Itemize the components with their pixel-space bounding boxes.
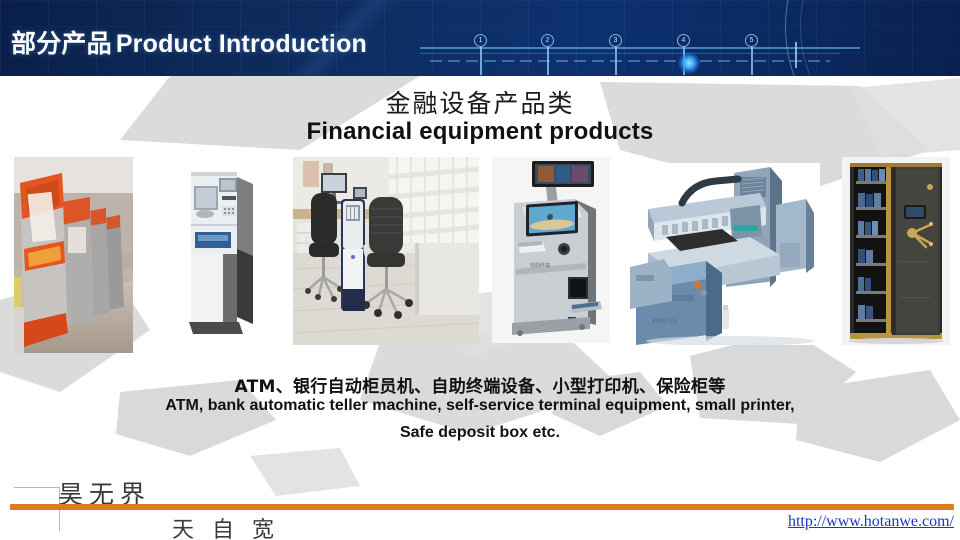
timeline-node-3-stem <box>615 47 617 75</box>
footer-divider-rule <box>10 504 954 510</box>
timeline-dashes <box>430 60 830 62</box>
dial-ticks-icon <box>772 0 960 76</box>
slide-header: 1 2 3 4 5 部分产品Product Introduction <box>0 0 960 76</box>
timeline-active-marker-glow <box>678 52 700 74</box>
timeline-node-5-label: 5 <box>745 34 758 47</box>
caption-cn: ATM、银行自动柜员机、自助终端设备、小型打印机、保险柜等 <box>0 372 960 397</box>
timeline-node-1-stem <box>480 47 482 75</box>
product-image-self-service-terminal: 自助终端 <box>492 157 610 343</box>
timeline-node-1: 1 <box>474 34 487 47</box>
page-title: 部分产品Product Introduction <box>11 24 367 60</box>
website-url-link[interactable]: http://www.hotanwe.com/ <box>788 513 954 531</box>
slide-root: 1 2 3 4 5 部分产品Product Introduction 金融设备产… <box>0 0 960 540</box>
timeline-node-3: 3 <box>609 34 622 47</box>
product-image-safe-deposit-cabinet <box>842 157 950 345</box>
timeline-node-4-label: 4 <box>677 34 690 47</box>
page-title-cn: 部分产品 <box>11 29 112 58</box>
svg-text:自助终端: 自助终端 <box>530 262 550 269</box>
timeline-node-4: 4 <box>677 34 690 47</box>
section-title-en: Financial equipment products <box>0 118 960 146</box>
product-image-bank-office <box>293 157 479 345</box>
timeline-node-5-stem <box>751 47 753 75</box>
timeline-node-2: 2 <box>541 34 554 47</box>
svg-text:PRINTER: PRINTER <box>652 318 678 325</box>
timeline-end-tick <box>795 42 797 68</box>
timeline-rule-secondary <box>420 53 840 54</box>
timeline-node-5: 5 <box>745 34 758 47</box>
logo-text-bottom: 天自宽 <box>172 512 292 540</box>
caption-en-line1: ATM, bank automatic teller machine, self… <box>0 397 960 415</box>
timeline-rule <box>420 47 860 49</box>
section-title-cn: 金融设备产品类 <box>0 84 960 120</box>
timeline-node-1-label: 1 <box>474 34 487 47</box>
timeline-node-3-label: 3 <box>609 34 622 47</box>
timeline-node-2-stem <box>547 47 549 75</box>
product-image-uv-flatbed-printer: PRINTER <box>630 163 820 345</box>
timeline-node-2-label: 2 <box>541 34 554 47</box>
caption-en-line2: Safe deposit box etc. <box>0 424 960 442</box>
product-image-white-atm <box>177 162 261 340</box>
page-title-en: Product Introduction <box>116 30 367 58</box>
product-image-kiosk-row <box>14 157 133 353</box>
